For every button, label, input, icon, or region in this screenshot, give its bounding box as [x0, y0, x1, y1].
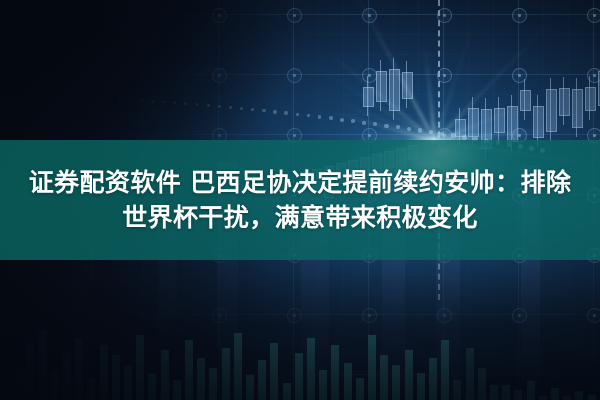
headline-line-2: 世界杯干扰，满意带来积极变化 [122, 203, 478, 233]
banner-image: 证券配资软件 巴西足协决定提前续约安帅：排除 世界杯干扰，满意带来积极变化 [0, 0, 600, 400]
headline-line-1: 证券配资软件 巴西足协决定提前续约安帅：排除 [29, 168, 572, 198]
headline-text: 证券配资软件 巴西足协决定提前续约安帅：排除 世界杯干扰，满意带来积极变化 [0, 140, 600, 260]
